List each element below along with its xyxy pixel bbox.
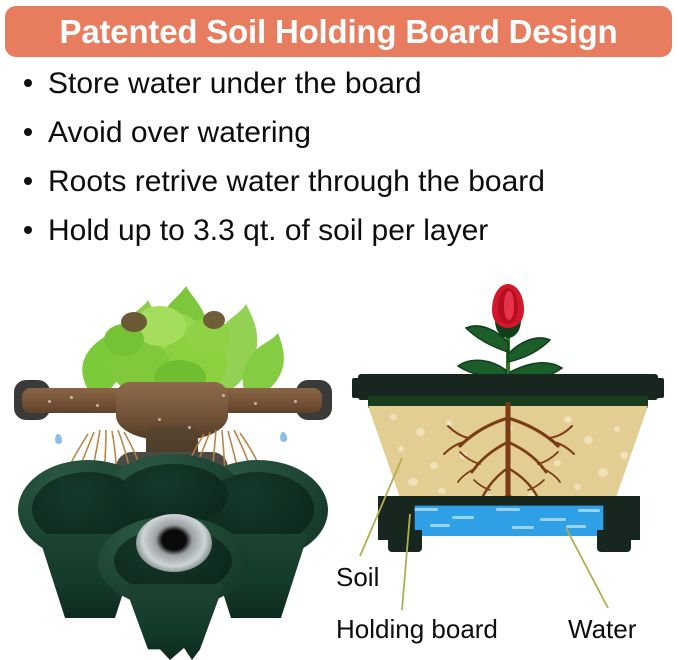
three-lobe-planter <box>18 454 328 660</box>
feature-list: Store water under the board Avoid over w… <box>0 62 679 258</box>
label-holding-board: Holding board <box>336 614 498 645</box>
cone-front <box>124 584 224 660</box>
feature-text: Roots retrive water through the board <box>48 160 545 204</box>
page-title: Patented Soil Holding Board Design <box>60 13 618 51</box>
list-item: Roots retrive water through the board <box>0 160 679 209</box>
bullet-icon <box>24 177 32 185</box>
bullet-icon <box>24 226 32 234</box>
feature-text: Hold up to 3.3 qt. of soil per layer <box>48 209 488 253</box>
list-item: Avoid over watering <box>0 111 679 160</box>
bullet-icon <box>24 128 32 136</box>
feature-text: Store water under the board <box>48 62 422 106</box>
list-item: Store water under the board <box>0 62 679 111</box>
planter-cross-section-diagram: Soil Holding board Water <box>340 278 679 660</box>
water-splash <box>136 514 212 572</box>
leader-lines <box>340 278 679 660</box>
list-item: Hold up to 3.3 qt. of soil per layer <box>0 209 679 258</box>
label-soil: Soil <box>336 562 379 593</box>
figures-row: Soil Holding board Water <box>0 278 679 660</box>
header-banner: Patented Soil Holding Board Design <box>5 6 672 57</box>
feature-text: Avoid over watering <box>48 111 311 155</box>
stacked-planter-photo <box>8 278 338 660</box>
bullet-icon <box>24 79 32 87</box>
infographic-root: Patented Soil Holding Board Design Store… <box>0 0 679 660</box>
label-water: Water <box>568 614 636 645</box>
